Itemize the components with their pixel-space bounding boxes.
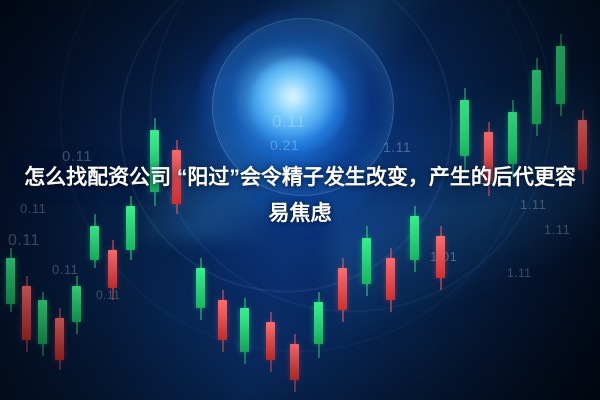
headline-text: 怎么找配资公司 “阳过”会令精子发生改变，产生的后代更容易焦虑 (0, 160, 600, 232)
banner-image: 0.110.211.110.111.110.111.111.110.111.01… (0, 0, 600, 400)
